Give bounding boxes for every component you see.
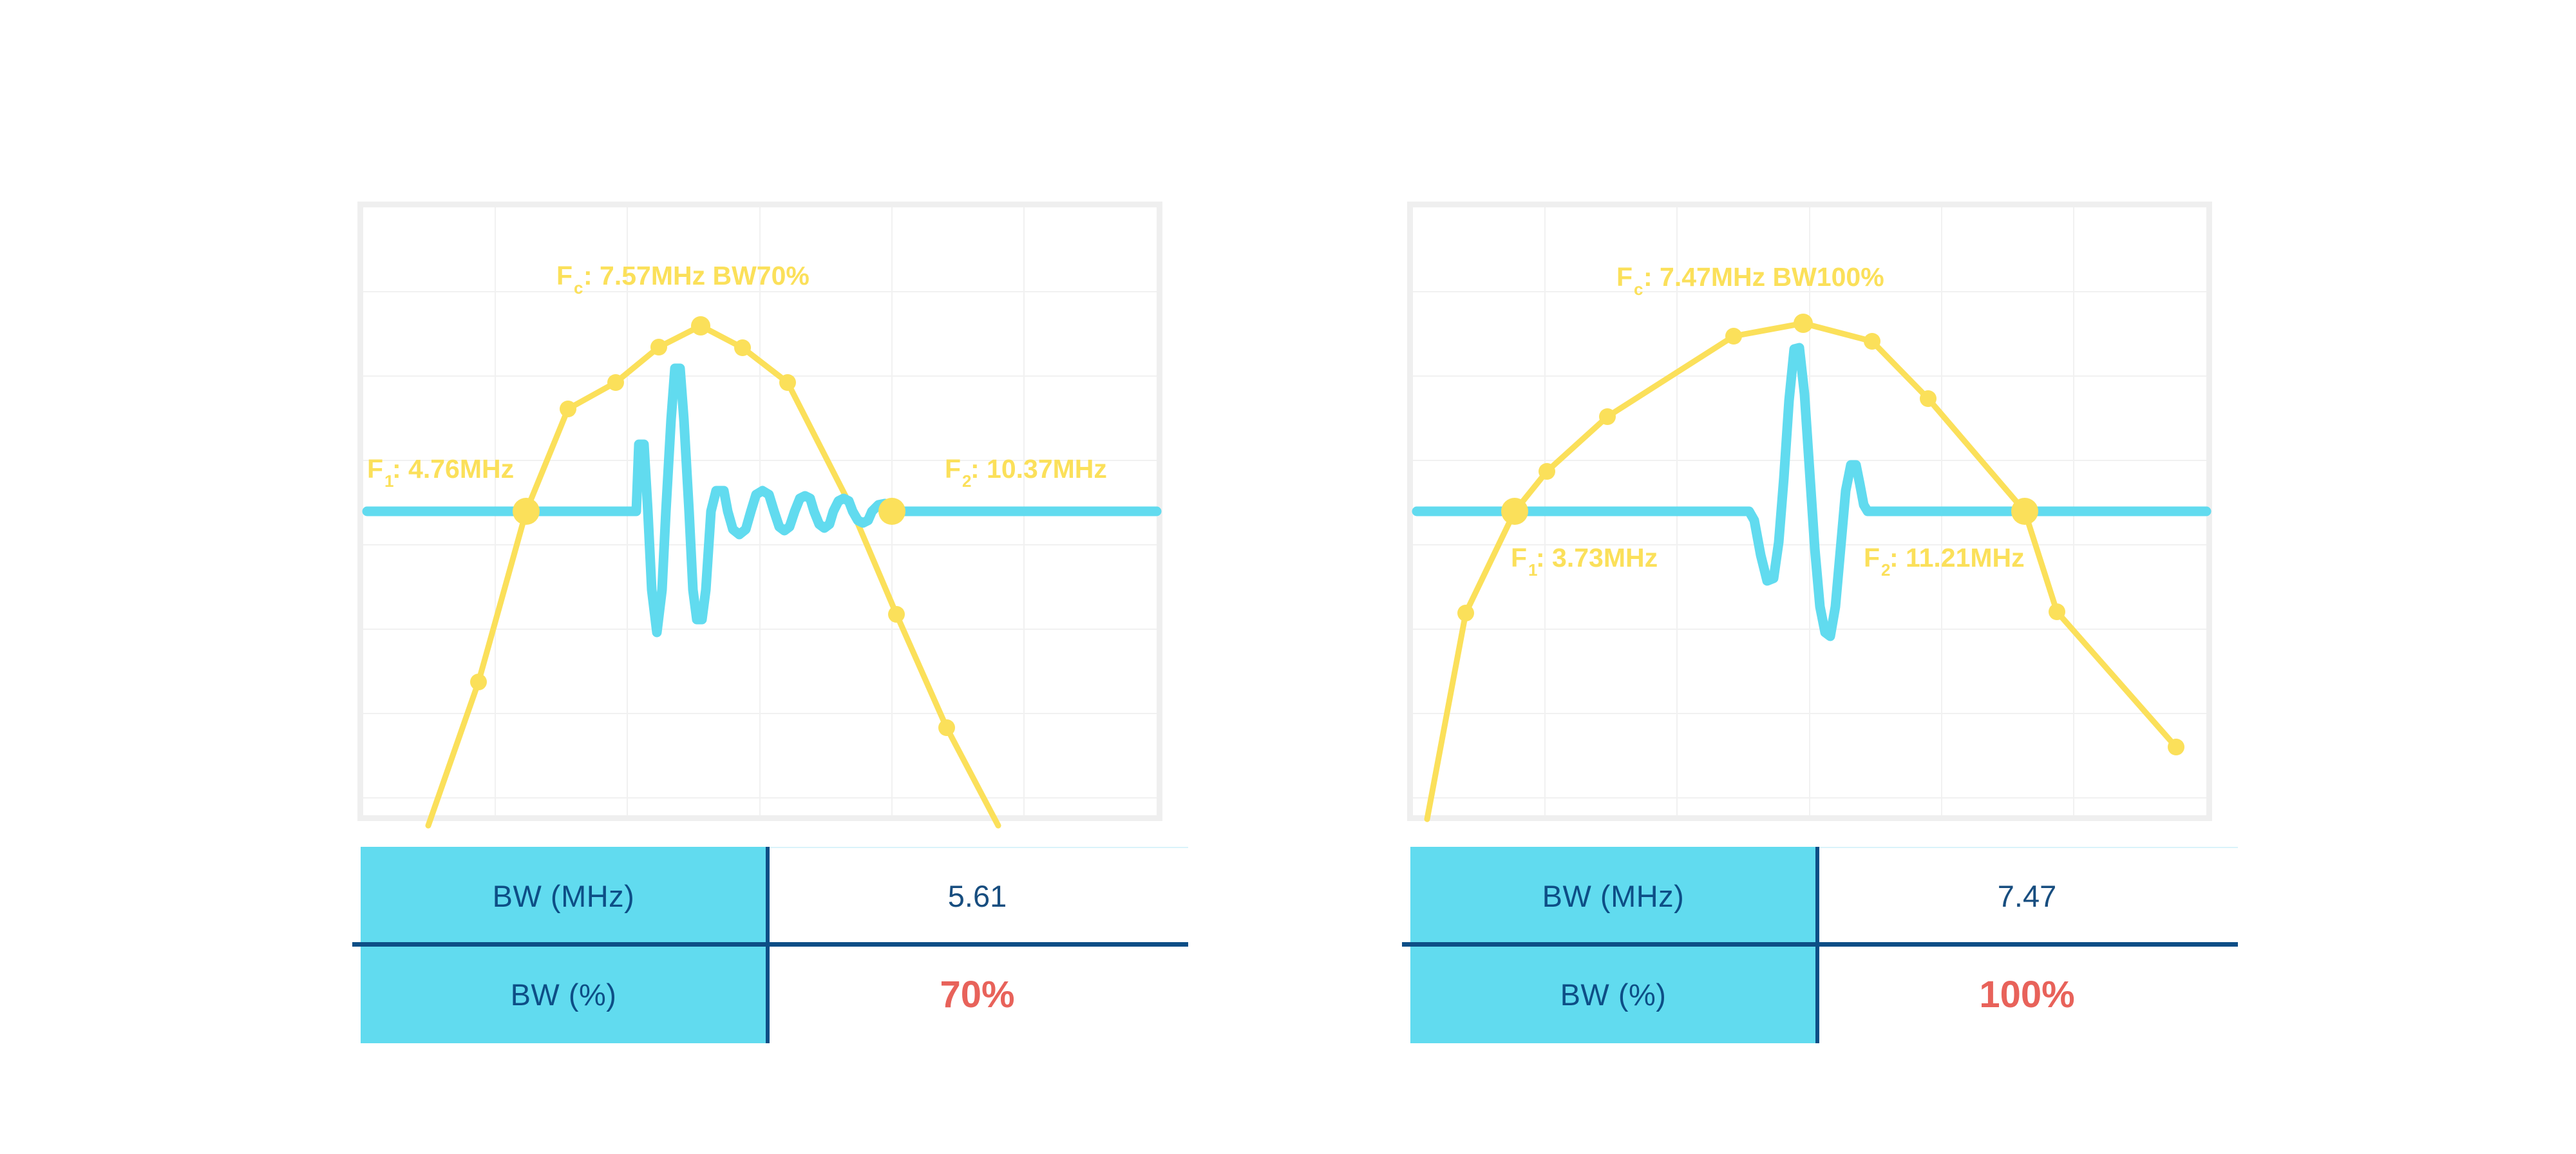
bw-pct-label-cell: BW (%) — [1410, 945, 1816, 1043]
annotation-fc-text: : 7.47MHz BW100% — [1643, 262, 1884, 292]
table-top-hairline — [1819, 847, 2238, 848]
marker-f1 — [513, 498, 540, 525]
chart-svg-left: F c : 7.57MHz BW70% F 1 : 4.76MHz F 2 — [363, 207, 1157, 815]
bw-mhz-label: BW (MHz) — [1542, 878, 1685, 914]
spectrum-curve — [428, 326, 998, 826]
chart-frame-right: F c : 7.47MHz BW100% F 1 : 3.73MHz F 2 — [1407, 202, 2212, 821]
annotation-f1: F 1 : 3.73MHz — [1511, 543, 1658, 580]
annotation-f2-prefix: F — [945, 454, 961, 484]
annotation-fc-sub: c — [1634, 279, 1643, 299]
bw-mhz-label-cell: BW (MHz) — [1410, 847, 1816, 945]
annotation-f2: F 2 : 11.21MHz — [1864, 543, 2025, 580]
bw-pct-label-cell: BW (%) — [361, 945, 766, 1043]
annotation-f1-text: : 4.76MHz — [392, 454, 514, 484]
chart-plot-area-right: F c : 7.47MHz BW100% F 1 : 3.73MHz F 2 — [1413, 207, 2206, 815]
annotation-f2-prefix: F — [1864, 543, 1880, 572]
table-row: BW (%) 100% — [1410, 945, 2238, 1043]
bw-table-right: BW (MHz) 7.47 BW (%) 100% — [1410, 847, 2238, 1043]
bw-pct-value-cell: 100% — [1816, 945, 2238, 1043]
marker-f2 — [878, 498, 905, 525]
annotation-f1: F 1 : 4.76MHz — [367, 454, 514, 491]
spectrum-markers — [1457, 314, 2184, 755]
bw-mhz-value-cell: 7.47 — [1816, 847, 2238, 945]
bw-mhz-value: 7.47 — [1998, 878, 2056, 914]
annotation-f1-prefix: F — [1511, 543, 1527, 572]
annotation-f1-text: : 3.73MHz — [1536, 543, 1658, 572]
bw-pct-label: BW (%) — [1560, 977, 1667, 1012]
figure-root: F c : 7.57MHz BW70% F 1 : 4.76MHz F 2 — [0, 0, 2576, 1154]
annotation-fc-text: : 7.57MHz BW70% — [583, 261, 810, 290]
marker-f2 — [2011, 498, 2038, 525]
bw-mhz-label-cell: BW (MHz) — [361, 847, 766, 945]
table-row: BW (MHz) 7.47 — [1410, 847, 2238, 945]
table-row-divider — [1402, 942, 2238, 947]
bw-mhz-value: 5.61 — [948, 878, 1007, 914]
annotation-fc-sub: c — [574, 278, 583, 298]
panel-right: F c : 7.47MHz BW100% F 1 : 3.73MHz F 2 — [1050, 0, 2338, 1154]
marker-f1 — [1501, 498, 1528, 525]
annotation-f1-prefix: F — [367, 454, 383, 484]
chart-frame-left: F c : 7.57MHz BW70% F 1 : 4.76MHz F 2 — [357, 202, 1162, 821]
chart-plot-area-left: F c : 7.57MHz BW70% F 1 : 4.76MHz F 2 — [363, 207, 1157, 815]
annotation-fc-prefix: F — [556, 261, 573, 290]
bw-mhz-label: BW (MHz) — [493, 878, 635, 914]
bw-pct-value: 100% — [1979, 973, 2074, 1016]
pulse-waveform — [367, 368, 1157, 632]
bw-pct-label: BW (%) — [511, 977, 617, 1012]
chart-svg-right: F c : 7.47MHz BW100% F 1 : 3.73MHz F 2 — [1413, 207, 2206, 815]
bw-pct-value: 70% — [940, 973, 1014, 1016]
annotation-fc-prefix: F — [1616, 262, 1633, 292]
annotation-f2-text: : 11.21MHz — [1889, 543, 2025, 572]
pulse-waveform — [1417, 348, 2206, 636]
annotation-fc: F c : 7.47MHz BW100% — [1616, 262, 1884, 299]
